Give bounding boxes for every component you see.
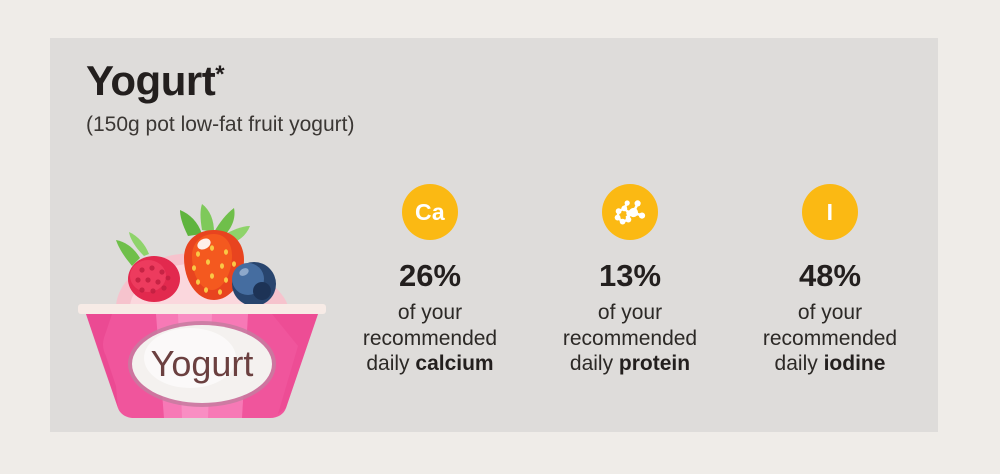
iodine-desc-line1: of your: [763, 300, 897, 326]
header: Yogurt* (150g pot low-fat fruit yogurt): [86, 60, 354, 135]
iodine-desc-prefix: daily: [775, 352, 824, 375]
calcium-desc-line1: of your: [363, 300, 497, 326]
calcium-symbol-icon: Ca: [415, 201, 445, 224]
page-title: Yogurt*: [86, 60, 354, 102]
infographic-card: Yogurt* (150g pot low-fat fruit yogurt): [50, 38, 938, 432]
calcium-desc-line3: daily calcium: [363, 351, 497, 377]
pot-rim: [78, 304, 326, 314]
calcium-percent: 26%: [399, 260, 461, 291]
nutrient-list: Ca 26% of your recommended daily calcium: [340, 184, 920, 377]
footnote-asterisk: *: [215, 61, 224, 88]
pot-label: Yogurt: [128, 321, 276, 407]
page-title-text: Yogurt: [86, 57, 215, 104]
infographic-stage: Yogurt* (150g pot low-fat fruit yogurt): [0, 0, 1000, 474]
calcium-description: of your recommended daily calcium: [363, 300, 497, 377]
yogurt-illustration: Yogurt: [72, 196, 332, 426]
calcium-desc-line2: recommended: [363, 326, 497, 352]
pot-label-text: Yogurt: [151, 343, 254, 384]
molecule-icon: [613, 195, 647, 229]
iodine-percent: 48%: [799, 260, 861, 291]
iodine-badge: I: [802, 184, 858, 240]
nutrient-calcium: Ca 26% of your recommended daily calcium: [340, 184, 520, 377]
nutrient-protein: 13% of your recommended daily protein: [540, 184, 720, 377]
protein-badge: [602, 184, 658, 240]
iodine-desc-line3: daily iodine: [763, 351, 897, 377]
iodine-description: of your recommended daily iodine: [763, 300, 897, 377]
protein-desc-line2: recommended: [563, 326, 697, 352]
calcium-desc-prefix: daily: [366, 352, 415, 375]
protein-description: of your recommended daily protein: [563, 300, 697, 377]
protein-desc-prefix: daily: [570, 352, 619, 375]
page-subtitle: (150g pot low-fat fruit yogurt): [86, 114, 354, 135]
blueberry-fruit: [232, 262, 276, 306]
iodine-nutrient-name: iodine: [824, 352, 886, 375]
protein-percent: 13%: [599, 260, 661, 291]
iodine-symbol-icon: I: [827, 201, 834, 224]
protein-desc-line3: daily protein: [563, 351, 697, 377]
iodine-desc-line2: recommended: [763, 326, 897, 352]
nutrient-iodine: I 48% of your recommended daily iodine: [740, 184, 920, 377]
calcium-nutrient-name: calcium: [415, 352, 493, 375]
calcium-badge: Ca: [402, 184, 458, 240]
protein-nutrient-name: protein: [619, 352, 690, 375]
protein-desc-line1: of your: [563, 300, 697, 326]
